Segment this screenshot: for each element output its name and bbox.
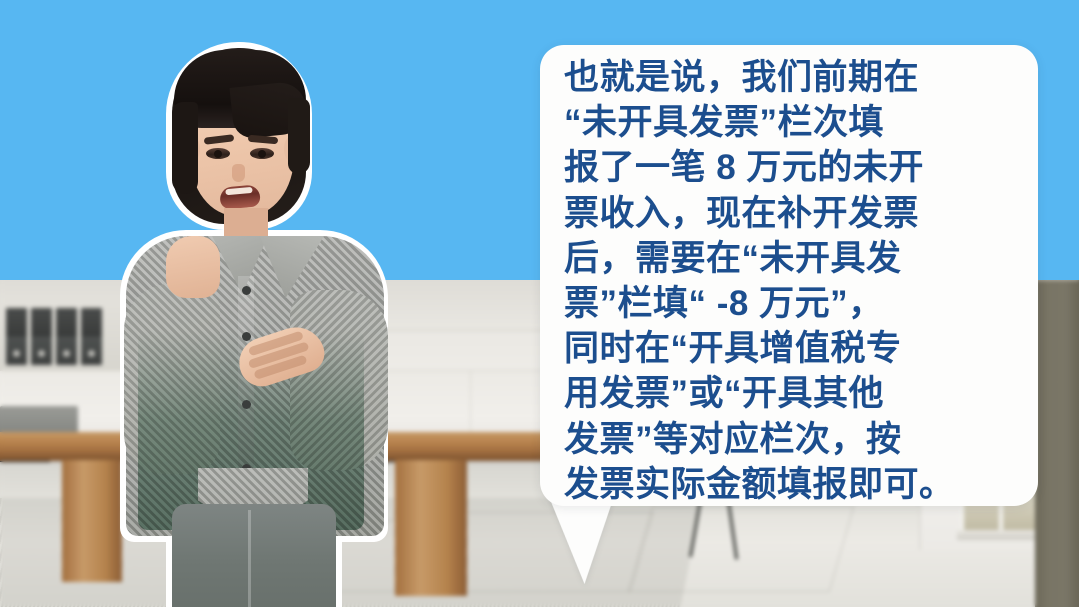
wall-column xyxy=(1035,280,1079,607)
speech-bubble: 也就是说，我们前期在 “未开具发票”栏次填 报了一笔 8 万元的未开 票收入，现… xyxy=(540,45,1038,506)
bubble-line: 发票实际金额填报即可。 xyxy=(564,462,1016,507)
binder-icon xyxy=(31,308,52,365)
bubble-line: 发票”等对应栏次，按 xyxy=(564,417,1016,462)
speech-bubble-text: 也就是说，我们前期在 “未开具发票”栏次填 报了一笔 8 万元的未开 票收入，现… xyxy=(564,55,1016,507)
video-frame: 也就是说，我们前期在 “未开具发票”栏次填 报了一笔 8 万元的未开 票收入，现… xyxy=(0,0,1079,607)
jacket-button xyxy=(242,332,251,341)
hair-side xyxy=(288,98,310,174)
bubble-line: “未开具发票”栏次填 xyxy=(564,100,1016,145)
binder-icon xyxy=(81,308,102,365)
bubble-line: 也就是说，我们前期在 xyxy=(564,55,1016,100)
bubble-line: 用发票”或“开具其他 xyxy=(564,371,1016,416)
bubble-line: 票收入，现在补开发票 xyxy=(564,191,1016,236)
mouth xyxy=(219,184,261,209)
skirt-seam xyxy=(248,510,251,607)
floor-tile xyxy=(628,506,855,592)
table-leg xyxy=(395,460,467,596)
hair-side xyxy=(172,102,198,194)
speech-bubble-tail xyxy=(549,498,622,584)
jacket-button xyxy=(242,400,251,409)
binder-icon xyxy=(6,308,27,365)
jacket-button xyxy=(242,286,251,295)
table-leg xyxy=(62,460,122,582)
presenter xyxy=(120,40,388,607)
bubble-line: 同时在“开具增值税专 xyxy=(564,326,1016,371)
bubble-line: 票”栏填“ -8 万元”， xyxy=(564,281,1016,326)
eye xyxy=(206,148,230,159)
raised-fist xyxy=(166,236,220,298)
bubble-line: 后，需要在“未开具发 xyxy=(564,236,1016,281)
bubble-line: 报了一笔 8 万元的未开 xyxy=(564,145,1016,190)
nose xyxy=(232,164,245,182)
binder-icon xyxy=(56,308,77,365)
eye xyxy=(250,148,274,159)
skirt xyxy=(172,504,336,607)
